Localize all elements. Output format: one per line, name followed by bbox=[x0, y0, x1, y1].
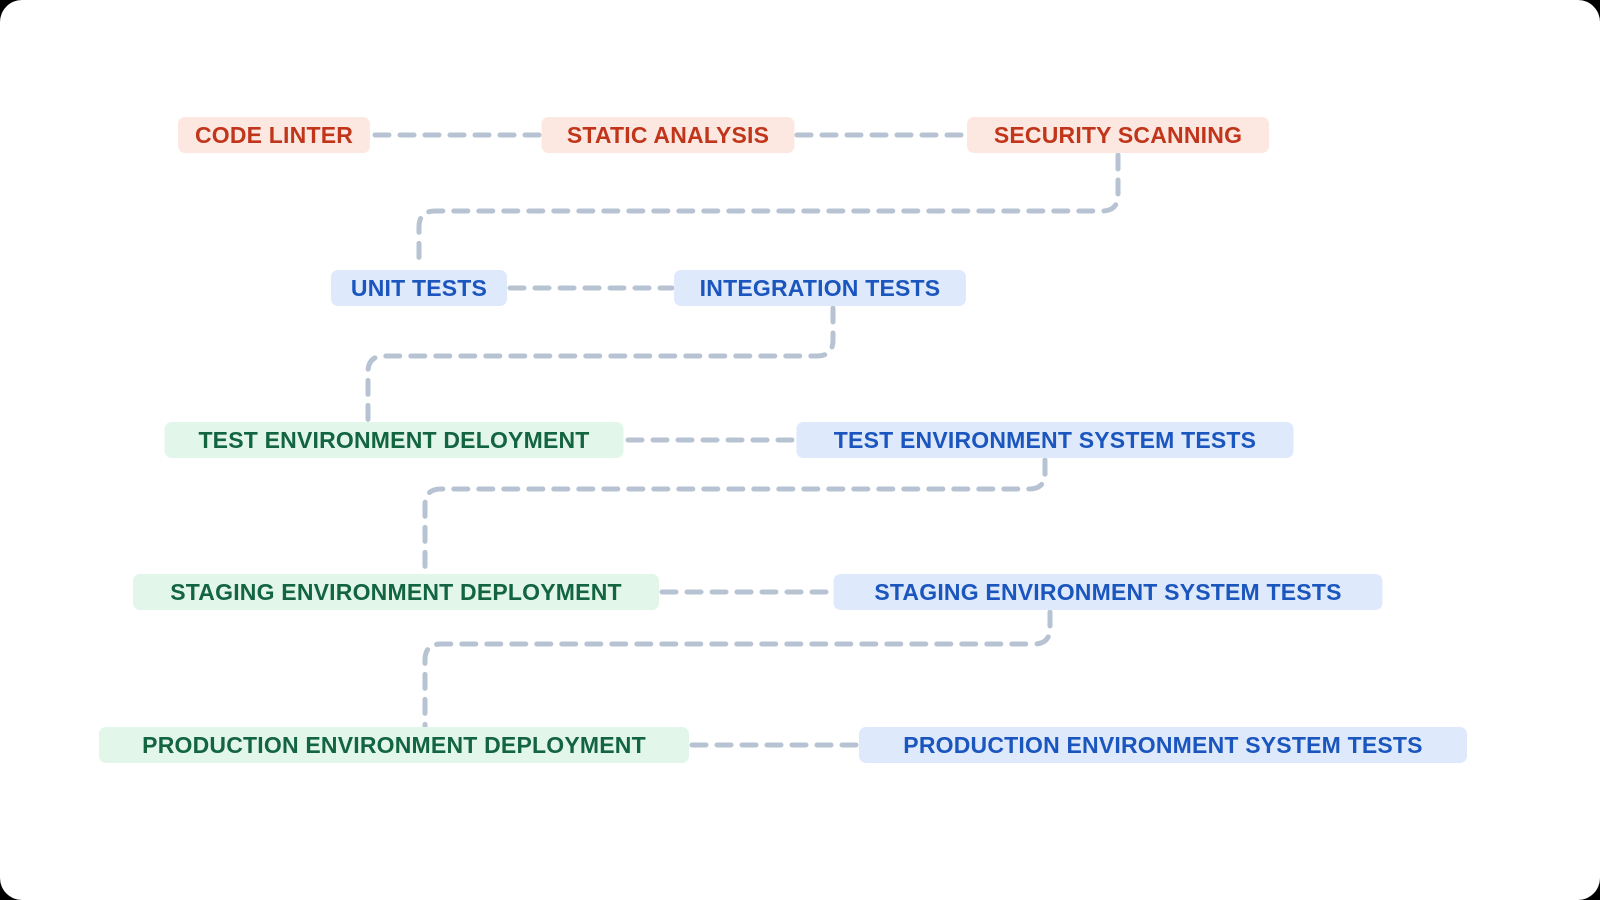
node-production-environment-deployment[interactable]: PRODUCTION ENVIRONMENT DEPLOYMENT bbox=[99, 727, 689, 763]
edge-security-scanning-to-unit-tests bbox=[419, 155, 1118, 268]
edge-integration-tests-to-test-env-deployment bbox=[368, 308, 833, 422]
node-test-environment-system-tests[interactable]: TEST ENVIRONMENT SYSTEM TESTS bbox=[797, 422, 1294, 458]
node-code-linter[interactable]: CODE LINTER bbox=[178, 117, 370, 153]
node-static-analysis[interactable]: STATIC ANALYSIS bbox=[542, 117, 795, 153]
diagram-canvas: CODE LINTERSTATIC ANALYSISSECURITY SCANN… bbox=[0, 0, 1600, 900]
node-test-environment-deloyment[interactable]: TEST ENVIRONMENT DELOYMENT bbox=[165, 422, 624, 458]
edge-test-env-system-tests-to-staging-env-deployment bbox=[425, 460, 1045, 574]
node-integration-tests[interactable]: INTEGRATION TESTS bbox=[674, 270, 966, 306]
node-production-environment-system-tests[interactable]: PRODUCTION ENVIRONMENT SYSTEM TESTS bbox=[859, 727, 1467, 763]
node-unit-tests[interactable]: UNIT TESTS bbox=[331, 270, 507, 306]
node-staging-environment-system-tests[interactable]: STAGING ENVIRONMENT SYSTEM TESTS bbox=[834, 574, 1383, 610]
node-staging-environment-deployment[interactable]: STAGING ENVIRONMENT DEPLOYMENT bbox=[133, 574, 659, 610]
node-security-scanning[interactable]: SECURITY SCANNING bbox=[967, 117, 1269, 153]
edge-staging-env-system-tests-to-prod-env-deployment bbox=[425, 612, 1050, 727]
